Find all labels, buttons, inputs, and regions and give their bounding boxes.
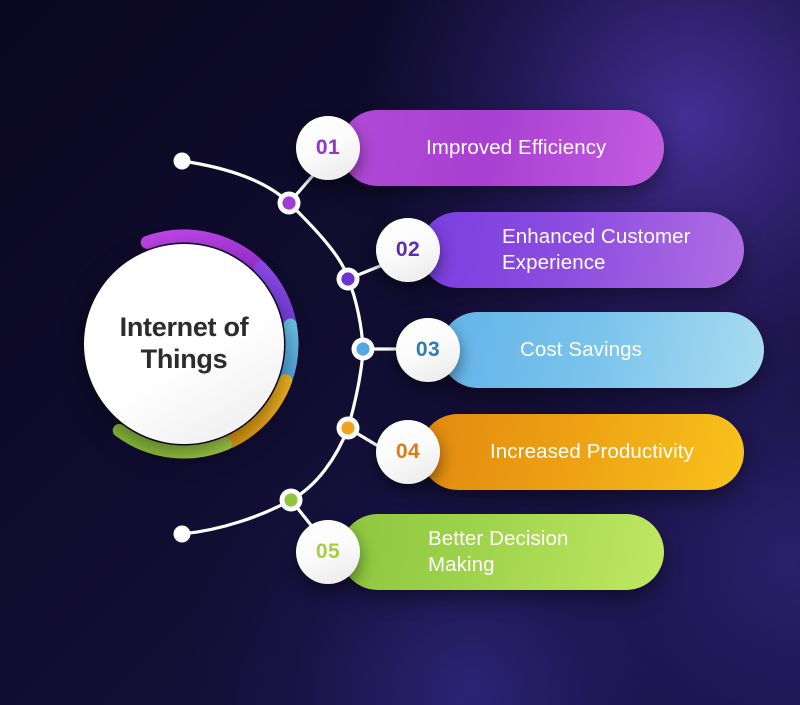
badge-02[interactable]: 02	[376, 218, 440, 282]
badge-04[interactable]: 04	[376, 420, 440, 484]
pill-4-line-1: Increased Productivity	[490, 439, 694, 465]
pill-1-label: Improved Efficiency	[426, 135, 606, 161]
hub-title: Internet of Things	[120, 312, 249, 376]
pill-2-label: Enhanced Customer Experience	[502, 224, 691, 275]
node-3-core	[356, 342, 369, 355]
badge-01[interactable]: 01	[296, 116, 360, 180]
hub-disc: Internet of Things	[84, 244, 284, 444]
pill-3-label: Cost Savings	[520, 337, 642, 363]
pill-5-line-2: Making	[428, 552, 569, 578]
connector-arc-3	[348, 349, 363, 428]
pill-1[interactable]: Improved Efficiency	[340, 110, 664, 186]
pill-4-label: Increased Productivity	[490, 439, 694, 465]
ring-seg-blue	[286, 325, 292, 381]
pill-5-label: Better Decision Making	[428, 526, 569, 577]
center-hub: Internet of Things	[68, 228, 300, 460]
pill-2[interactable]: Enhanced Customer Experience	[420, 212, 744, 288]
connector-top-stub	[182, 161, 289, 203]
node-2-core	[341, 272, 354, 285]
pill-2-line-2: Experience	[502, 250, 691, 276]
pill-3[interactable]: Cost Savings	[440, 312, 764, 388]
pill-2-line-1: Enhanced Customer	[502, 224, 691, 250]
pill-4[interactable]: Increased Productivity	[420, 414, 744, 490]
terminal-dot-bottom	[174, 526, 191, 543]
node-5-core	[284, 493, 297, 506]
pill-5[interactable]: Better Decision Making	[340, 514, 664, 590]
pill-1-line-1: Improved Efficiency	[426, 135, 606, 161]
terminal-dot-top	[174, 153, 191, 170]
connector-bottom-stub	[182, 500, 291, 534]
badge-05[interactable]: 05	[296, 520, 360, 584]
pill-5-line-1: Better Decision	[428, 526, 569, 552]
infographic-canvas: Internet of Things Improved Efficiency 0…	[0, 0, 800, 705]
hub-title-line-1: Internet of	[120, 312, 249, 344]
node-4-core	[341, 421, 354, 434]
badge-03[interactable]: 03	[396, 318, 460, 382]
node-1-core	[282, 196, 295, 209]
pill-3-line-1: Cost Savings	[520, 337, 642, 363]
hub-title-line-2: Things	[120, 344, 249, 376]
